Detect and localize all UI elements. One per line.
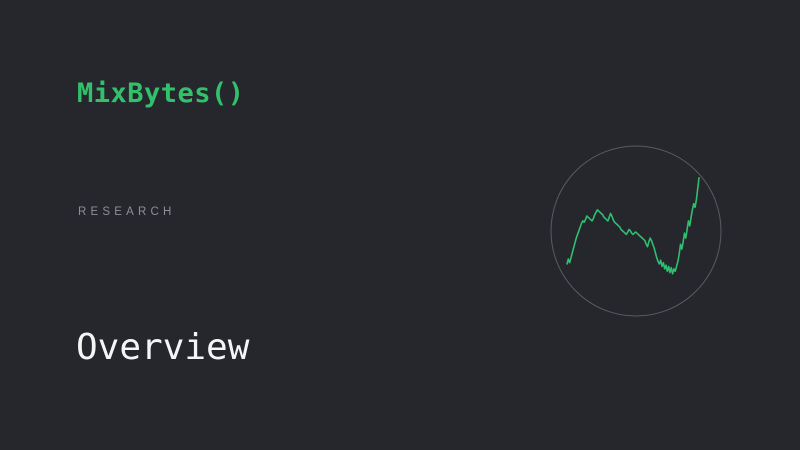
cover-canvas: MixBytes() RESEARCH Overview of the Infl…: [0, 0, 800, 450]
circular-chart-svg: [548, 143, 724, 319]
emblem-circle-outline: [551, 146, 721, 316]
price-line: [567, 178, 699, 274]
title-line-1: Overview: [76, 327, 423, 369]
brand-logo[interactable]: MixBytes(): [77, 80, 245, 107]
chart-emblem: [548, 143, 724, 319]
category-label: RESEARCH: [78, 207, 176, 219]
page-title: Overview of the Inflation Attack: [76, 243, 423, 450]
